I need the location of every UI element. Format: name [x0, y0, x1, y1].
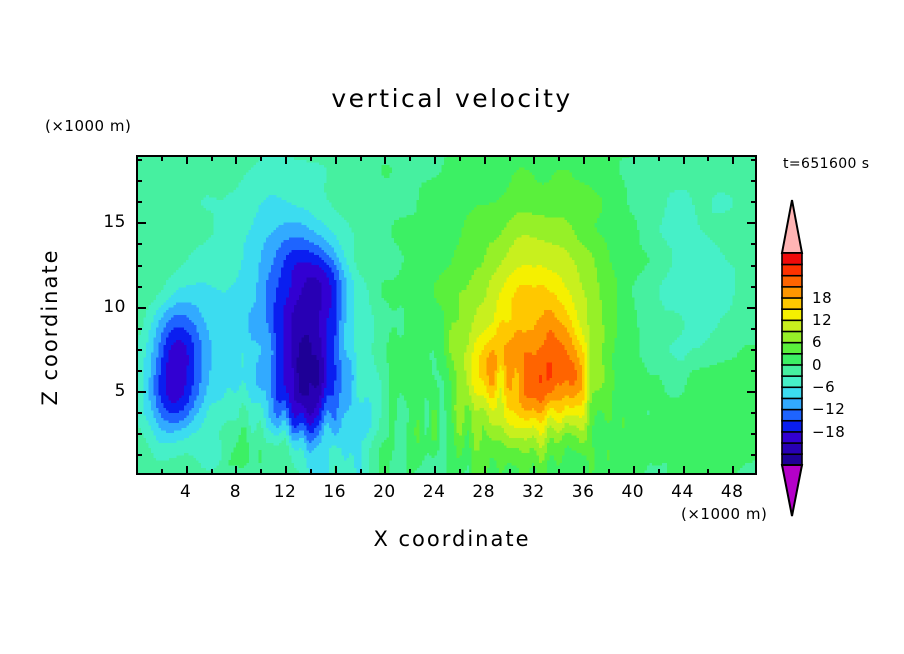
colorbar-tick-label: 12 [812, 311, 832, 329]
colorbar-tick-label: 6 [812, 333, 822, 351]
colorbar-tick-label: −6 [812, 378, 835, 396]
colorbar-tick-label: 0 [812, 356, 822, 374]
colorbar-tick-label: −12 [812, 400, 845, 418]
colorbar-tick-label: 18 [812, 289, 832, 307]
colorbar-tick-label: −18 [812, 423, 845, 441]
colorbar-labels: 181260−6−12−18 [0, 0, 904, 654]
chart-canvas: vertical velocity (×1000 m) (×1000 m) t=… [0, 0, 904, 654]
